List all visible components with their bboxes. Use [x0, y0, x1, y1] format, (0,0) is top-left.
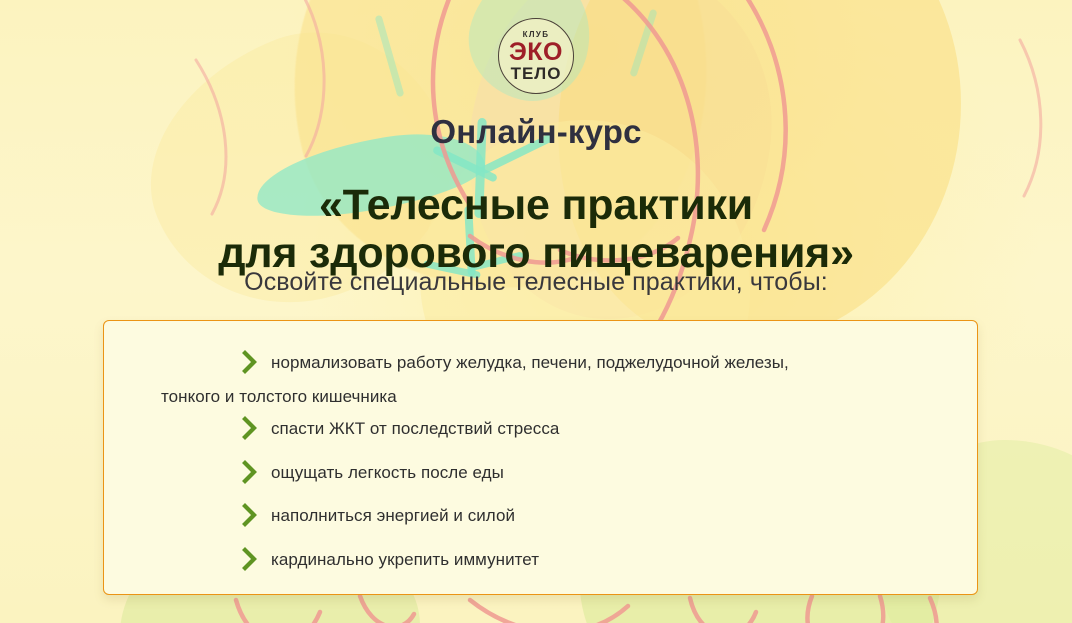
logo-circle[interactable]: КЛУБ ЭКО ТЕЛО	[498, 18, 574, 94]
list-item-label: ощущать легкость после еды	[271, 459, 504, 487]
page-title: «Телесные практики для здорового пищевар…	[0, 181, 1072, 277]
list-item: кардинально укрепить иммунитет	[144, 546, 937, 574]
list-item: нормализовать работу желудка, печени, по…	[144, 349, 937, 410]
chevron-right-icon	[242, 547, 259, 571]
page-subtitle: Освойте специальные телесные практики, ч…	[0, 268, 1072, 297]
brand-logo[interactable]: КЛУБ ЭКО ТЕЛО	[0, 18, 1072, 94]
list-item-label: кардинально укрепить иммунитет	[271, 546, 539, 574]
chevron-right-icon	[242, 503, 259, 527]
list-item: ощущать легкость после еды	[144, 459, 937, 487]
list-item: спасти ЖКТ от последствий стресса	[144, 415, 937, 443]
course-kicker: Онлайн-курс	[0, 113, 1072, 151]
logo-eco-text: ЭКО	[509, 40, 563, 65]
list-item-label-line-2: тонкого и толстого кишечника	[161, 383, 789, 411]
promo-page: КЛУБ ЭКО ТЕЛО Онлайн-курс «Телесные прак…	[0, 0, 1072, 623]
page-title-line-1: «Телесные практики	[319, 181, 753, 229]
list-item: наполниться энергией и силой	[144, 502, 937, 530]
chevron-right-icon	[242, 460, 259, 484]
list-item-label-line-1: нормализовать работу желудка, печени, по…	[271, 353, 789, 372]
chevron-right-icon	[242, 416, 259, 440]
logo-telo-text: ТЕЛО	[511, 65, 562, 82]
chevron-right-icon	[242, 350, 259, 374]
benefits-card: нормализовать работу желудка, печени, по…	[103, 320, 978, 595]
list-item-label: наполниться энергией и силой	[271, 502, 515, 530]
page-content: КЛУБ ЭКО ТЕЛО Онлайн-курс «Телесные прак…	[0, 0, 1072, 623]
list-item-label: спасти ЖКТ от последствий стресса	[271, 415, 559, 443]
